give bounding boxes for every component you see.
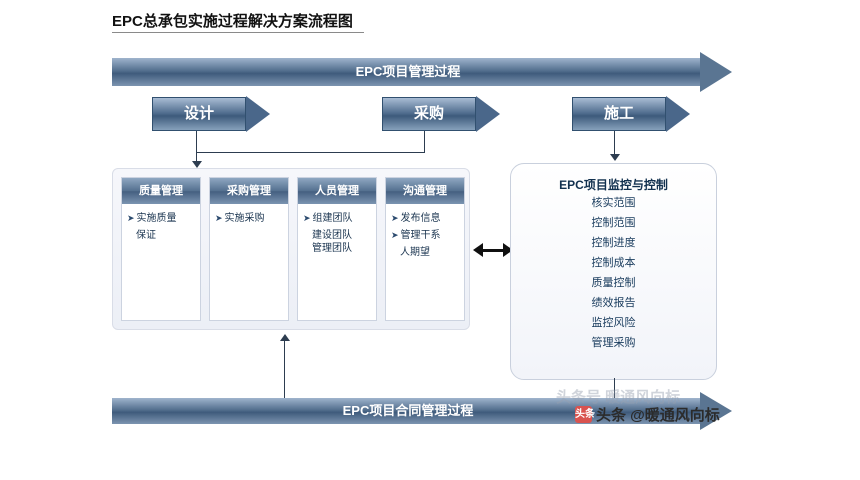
stage-label-procurement: 采购 <box>382 97 476 131</box>
monitoring-item-5: 绩效报告 <box>511 293 716 313</box>
column-body-personnel: ➤ 组建团队 建设团队 管理团队 <box>298 204 376 255</box>
bullet-arrow-icon: ➤ <box>391 212 399 225</box>
watermark-main: 头条 头条 @暖通风向标 <box>575 404 720 425</box>
bullet-arrow-icon: ➤ <box>303 212 311 225</box>
connector-design-down <box>196 131 197 153</box>
connector-procurement-down <box>424 131 425 153</box>
title-underline <box>112 32 364 33</box>
monitoring-item-1: 控制范围 <box>511 213 716 233</box>
stage-chevron-design: 设计 <box>152 97 270 131</box>
stage-chevron-construction: 施工 <box>572 97 690 131</box>
column-body-quality: ➤ 实施质量 保证 <box>122 204 200 242</box>
monitoring-item-2: 控制进度 <box>511 233 716 253</box>
column-header-procurement: 采购管理 <box>210 178 288 204</box>
stage-label-construction: 施工 <box>572 97 666 131</box>
watermark-text: 头条 @暖通风向标 <box>596 404 720 425</box>
chevron-arrowhead-icon <box>666 96 690 132</box>
monitoring-item-3: 控制成本 <box>511 253 716 273</box>
stage-label-design: 设计 <box>152 97 246 131</box>
connector-into-panel-arrow-icon <box>192 161 202 168</box>
connector-horizontal-bridge <box>196 152 425 153</box>
monitoring-box-title: EPC项目监控与控制 <box>511 176 716 193</box>
bullet-text: 发布信息 <box>401 212 441 225</box>
management-panel: 质量管理 ➤ 实施质量 保证 采购管理 ➤ 实施采购 人员管理 <box>112 168 470 330</box>
bullet-item: ➤ 实施采购 <box>215 212 284 225</box>
bullet-text-2-cont: 人期望 <box>400 246 460 259</box>
bullet-item: ➤ 组建团队 <box>303 212 372 225</box>
panel-column-quality[interactable]: 质量管理 ➤ 实施质量 保证 <box>121 177 201 321</box>
column-header-communication: 沟通管理 <box>386 178 464 204</box>
bullet-arrow-icon: ➤ <box>215 212 223 225</box>
column-body-communication: ➤ 发布信息 ➤ 管理干系 人期望 <box>386 204 464 259</box>
chevron-arrowhead-icon <box>476 96 500 132</box>
bidirectional-connector <box>482 249 504 252</box>
column-body-procurement: ➤ 实施采购 <box>210 204 288 225</box>
bullet-text: 实施采购 <box>225 212 265 225</box>
column-header-quality: 质量管理 <box>122 178 200 204</box>
stage-chevron-procurement: 采购 <box>382 97 500 131</box>
bullet-text-2: 管理干系 <box>401 229 441 242</box>
panel-column-personnel[interactable]: 人员管理 ➤ 组建团队 建设团队 管理团队 <box>297 177 377 321</box>
connector-construction-arrow-icon <box>610 154 620 161</box>
panel-column-communication[interactable]: 沟通管理 ➤ 发布信息 ➤ 管理干系 人期望 <box>385 177 465 321</box>
toutiao-logo-icon: 头条 <box>575 406 592 423</box>
bullet-arrow-icon: ➤ <box>127 212 135 225</box>
monitoring-item-4: 质量控制 <box>511 273 716 293</box>
monitoring-item-7: 管理采购 <box>511 333 716 353</box>
monitoring-control-box: EPC项目监控与控制 核实范围 控制范围 控制进度 控制成本 质量控制 绩效报告… <box>510 163 717 380</box>
monitoring-item-0: 核实范围 <box>511 193 716 213</box>
bullet-item: ➤ 实施质量 <box>127 212 196 225</box>
diagram-canvas: EPC总承包实施过程解决方案流程图 EPC项目管理过程 设计 采购 施工 质量管… <box>0 0 860 480</box>
connector-bottom-to-panel-arrow-icon <box>280 334 290 341</box>
bullet-text-cont2: 管理团队 <box>312 242 372 255</box>
bullet-item-2: ➤ 管理干系 <box>391 229 460 242</box>
bullet-arrow-icon: ➤ <box>391 229 399 242</box>
page-title: EPC总承包实施过程解决方案流程图 <box>112 10 353 31</box>
column-header-personnel: 人员管理 <box>298 178 376 204</box>
top-process-band: EPC项目管理过程 <box>112 58 732 86</box>
monitoring-item-6: 监控风险 <box>511 313 716 333</box>
bullet-text-cont: 建设团队 <box>312 229 372 242</box>
bullet-text-cont: 保证 <box>136 229 196 242</box>
connector-bottom-to-panel <box>284 340 285 398</box>
panel-column-procurement[interactable]: 采购管理 ➤ 实施采购 <box>209 177 289 321</box>
connector-construction-down <box>614 131 615 156</box>
bullet-text: 组建团队 <box>313 212 353 225</box>
top-band-arrowhead-icon <box>700 52 732 92</box>
bidirectional-arrow-left-icon <box>473 243 483 257</box>
top-band-label: EPC项目管理过程 <box>112 58 704 86</box>
bullet-text: 实施质量 <box>137 212 177 225</box>
chevron-arrowhead-icon <box>246 96 270 132</box>
bullet-item: ➤ 发布信息 <box>391 212 460 225</box>
